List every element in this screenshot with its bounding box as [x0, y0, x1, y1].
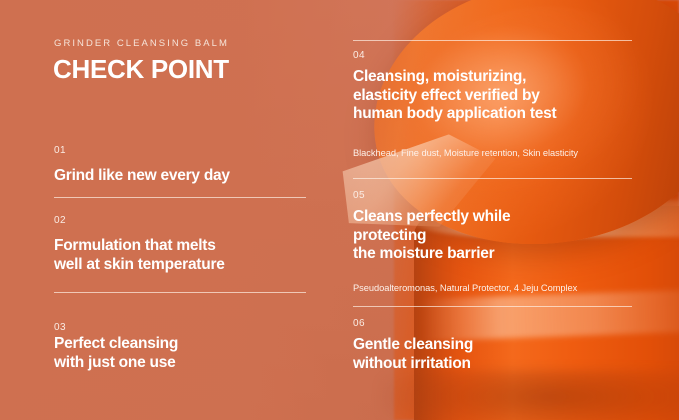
check-item-number-03: 03: [54, 322, 66, 333]
check-item-number-02: 02: [54, 215, 66, 226]
check-item-title-03: Perfect cleansingwith just one use: [54, 335, 314, 372]
check-point-poster: GRINDER CLEANSING BALM CHECK POINT 01 Gr…: [0, 0, 679, 420]
divider-left-2: [54, 292, 306, 293]
divider-right-3: [353, 306, 632, 307]
poster-content: GRINDER CLEANSING BALM CHECK POINT 01 Gr…: [0, 0, 679, 420]
divider-right-1: [353, 40, 632, 41]
check-item-title-06: Gentle cleansingwithout irritation: [353, 336, 643, 373]
check-item-subtitle-04: Blackhead, Fine dust, Moisture retention…: [353, 148, 578, 158]
page-title: CHECK POINT: [53, 54, 229, 85]
check-item-title-02: Formulation that meltswell at skin tempe…: [54, 237, 314, 274]
divider-right-2: [353, 178, 632, 179]
check-item-title-04: Cleansing, moisturizing,elasticity effec…: [353, 68, 643, 124]
check-item-number-01: 01: [54, 145, 66, 156]
check-item-number-04: 04: [353, 50, 365, 61]
check-item-subtitle-05: Pseudoalteromonas, Natural Protector, 4 …: [353, 283, 577, 293]
check-item-number-06: 06: [353, 318, 365, 329]
brand-eyebrow: GRINDER CLEANSING BALM: [54, 38, 229, 49]
divider-left-1: [54, 197, 306, 198]
check-item-title-05: Cleans perfectly whileprotectingthe mois…: [353, 208, 643, 264]
check-item-title-01: Grind like new every day: [54, 167, 314, 186]
check-item-number-05: 05: [353, 190, 365, 201]
